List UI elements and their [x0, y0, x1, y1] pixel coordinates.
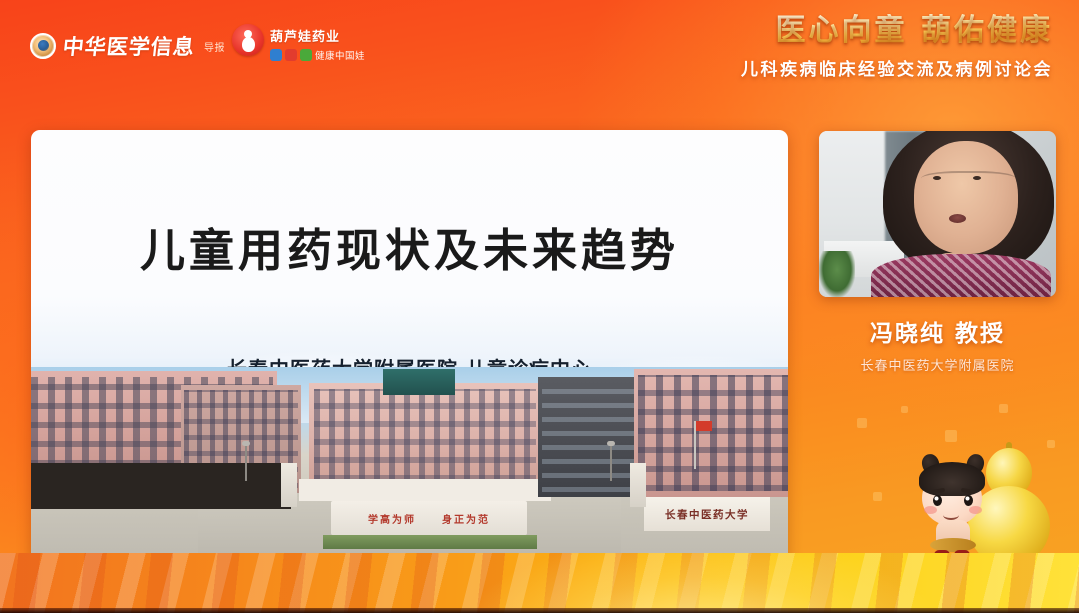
logo-cmj-suffix: 导报 [204, 39, 225, 54]
logo-huluwa-tagline-row: 健康中国娃 [270, 48, 365, 62]
campus-pillar-left [281, 463, 297, 507]
mascot-mouth [943, 510, 959, 520]
campus-building-center-base [299, 479, 551, 501]
logo-chinese-medical-journal: 中华医学信息 导报 [30, 31, 225, 61]
event-subtitle: 儿科疾病临床经验交流及病例讨论会 [741, 55, 1053, 80]
broadcast-stage: 中华医学信息 导报 葫芦娃药业 健康中国娃 医心向童 葫佑健康 儿科疾病临床经验… [0, 0, 1079, 613]
speaker-name: 冯晓纯 教授 [819, 314, 1056, 348]
medical-seal-icon [30, 33, 56, 59]
chip-blue-icon [270, 49, 282, 61]
campus-building-center [309, 383, 541, 487]
speaker-eye-right [973, 176, 981, 180]
bottom-sunburst [0, 553, 1079, 613]
campus-lamp-right [610, 445, 612, 481]
campus-lawn [323, 535, 537, 549]
mascot-cheek-right [969, 506, 982, 514]
campus-photo: 学高为师 身正为范 长春中医药大学 [31, 367, 788, 567]
speaker-affiliation: 长春中医药大学附属医院 [819, 355, 1056, 374]
slide-title: 儿童用药现状及未来趋势 [31, 214, 788, 279]
monument-text-left: 学高为师 [368, 511, 416, 526]
sparkle-square [857, 418, 867, 428]
monument-text-right: 身正为范 [442, 511, 490, 526]
gourd-badge-icon [232, 24, 264, 56]
sponsor-logo-row: 中华医学信息 导报 葫芦娃药业 健康中国娃 [0, 0, 700, 92]
glasses-icon [921, 171, 1016, 190]
campus-gate-sign: 长春中医药大学 [644, 497, 770, 531]
video-plant [819, 251, 855, 297]
mascot-cheek-left [924, 506, 937, 514]
sparkle-square [999, 404, 1008, 413]
sparkle-square [901, 406, 908, 413]
mascot-eye-left [933, 495, 942, 506]
logo-huluwa-tagline: 健康中国娃 [315, 48, 365, 62]
speaker-caption: 冯晓纯 教授 长春中医药大学附属医院 [819, 314, 1056, 374]
campus-lamp-left [245, 445, 247, 481]
event-title: 医心向童 葫佑健康 [741, 14, 1053, 49]
bottom-edge-shadow [0, 608, 1079, 613]
campus-building-center-roof [383, 369, 455, 395]
speaker-face [914, 141, 1018, 254]
campus-monument: 学高为师 身正为范 [331, 501, 527, 535]
campus-building-left-base [31, 463, 291, 509]
chip-red-icon [285, 49, 297, 61]
chip-green-icon [300, 49, 312, 61]
campus-building-right [634, 369, 788, 497]
sunburst-highlight [453, 553, 949, 613]
logo-huluwa-pharma: 葫芦娃药业 健康中国娃 [232, 24, 365, 62]
speaker-video-feed[interactable] [819, 131, 1056, 297]
logo-huluwa-text: 葫芦娃药业 健康中国娃 [270, 24, 365, 62]
gate-sign-text: 长春中医药大学 [665, 507, 749, 522]
sparkle-square [873, 492, 882, 501]
campus-flagpole [694, 421, 696, 469]
campus-pillar-right [630, 463, 646, 507]
mascot-eye-right [964, 495, 973, 506]
logo-cmj-name: 中华医学信息 [61, 31, 196, 61]
event-title-block: 医心向童 葫佑健康 儿科疾病临床经验交流及病例讨论会 [741, 14, 1053, 80]
speaker-eye-left [933, 176, 941, 180]
presentation-slide[interactable]: 儿童用药现状及未来趋势 长春中医药大学附属医院 儿童诊疗中心 长春中医药大学附属… [31, 130, 788, 567]
speaker-shirt [871, 254, 1051, 297]
logo-huluwa-name: 葫芦娃药业 [270, 26, 365, 45]
